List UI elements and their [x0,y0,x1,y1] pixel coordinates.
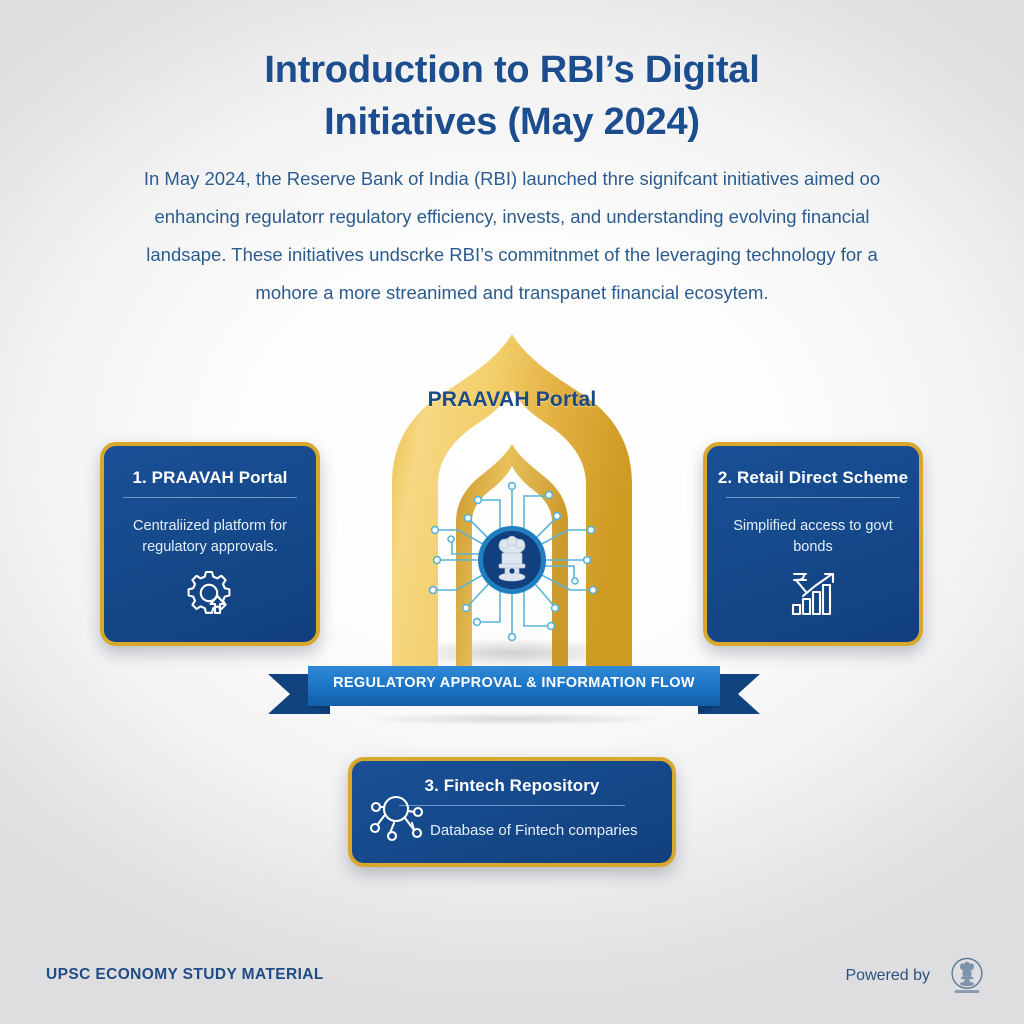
page-title-line-1: Introduction to RBI’s Digital [264,49,759,91]
initiative-card-retail-direct-scheme[interactable]: 2. Retail Direct Scheme Simplified acces… [703,442,923,646]
infographic-canvas: Introduction to RBI’s Digital Initiative… [0,0,1024,1024]
card-divider [726,497,900,498]
card-divider [399,805,625,806]
page-title-line-2: Initiatives (May 2024) [0,96,1024,148]
rupee-growth-chart-icon [785,565,841,621]
ribbon-shadow [308,710,718,728]
ashoka-emblem-badge-icon [946,955,988,997]
card-body: Simplified access to govt bonds [707,516,919,558]
footer-brand-label: UPSC ECONOMY STUDY MATERIAL [46,966,324,984]
ashoka-emblem-circuit-icon [422,470,602,650]
powered-by-label: Powered by [846,967,931,985]
ribbon-label: REGULATORY APPROVAL & INFORMATION FLOW [268,675,760,691]
intro-paragraph: In May 2024, the Reserve Bank of India (… [138,160,886,312]
initiative-card-fintech-repository[interactable]: 3. Fintech Repository Database of Fintec… [348,757,676,867]
page-title: Introduction to RBI’s Digital Initiative… [0,44,1024,148]
gear-cursor-icon [182,565,238,621]
card-icon-slot [785,565,841,626]
card-icon-slot [368,790,426,849]
card-body: Centraliized platform for regulatory app… [104,516,316,558]
footer-powered-by: Powered by [846,955,989,997]
praavah-arch: PRAAVAH Portal [376,332,648,672]
magnifier-network-icon [368,790,426,844]
arch-label: PRAAVAH Portal [376,388,648,412]
flow-ribbon: REGULATORY APPROVAL & INFORMATION FLOW [268,660,760,720]
card-title: 2. Retail Direct Scheme [707,468,919,488]
card-icon-slot [182,565,238,626]
card-divider [123,497,297,498]
card-title: 1. PRAAVAH Portal [104,468,316,488]
initiative-card-praavah-portal[interactable]: 1. PRAAVAH Portal Centraliized platform … [100,442,320,646]
